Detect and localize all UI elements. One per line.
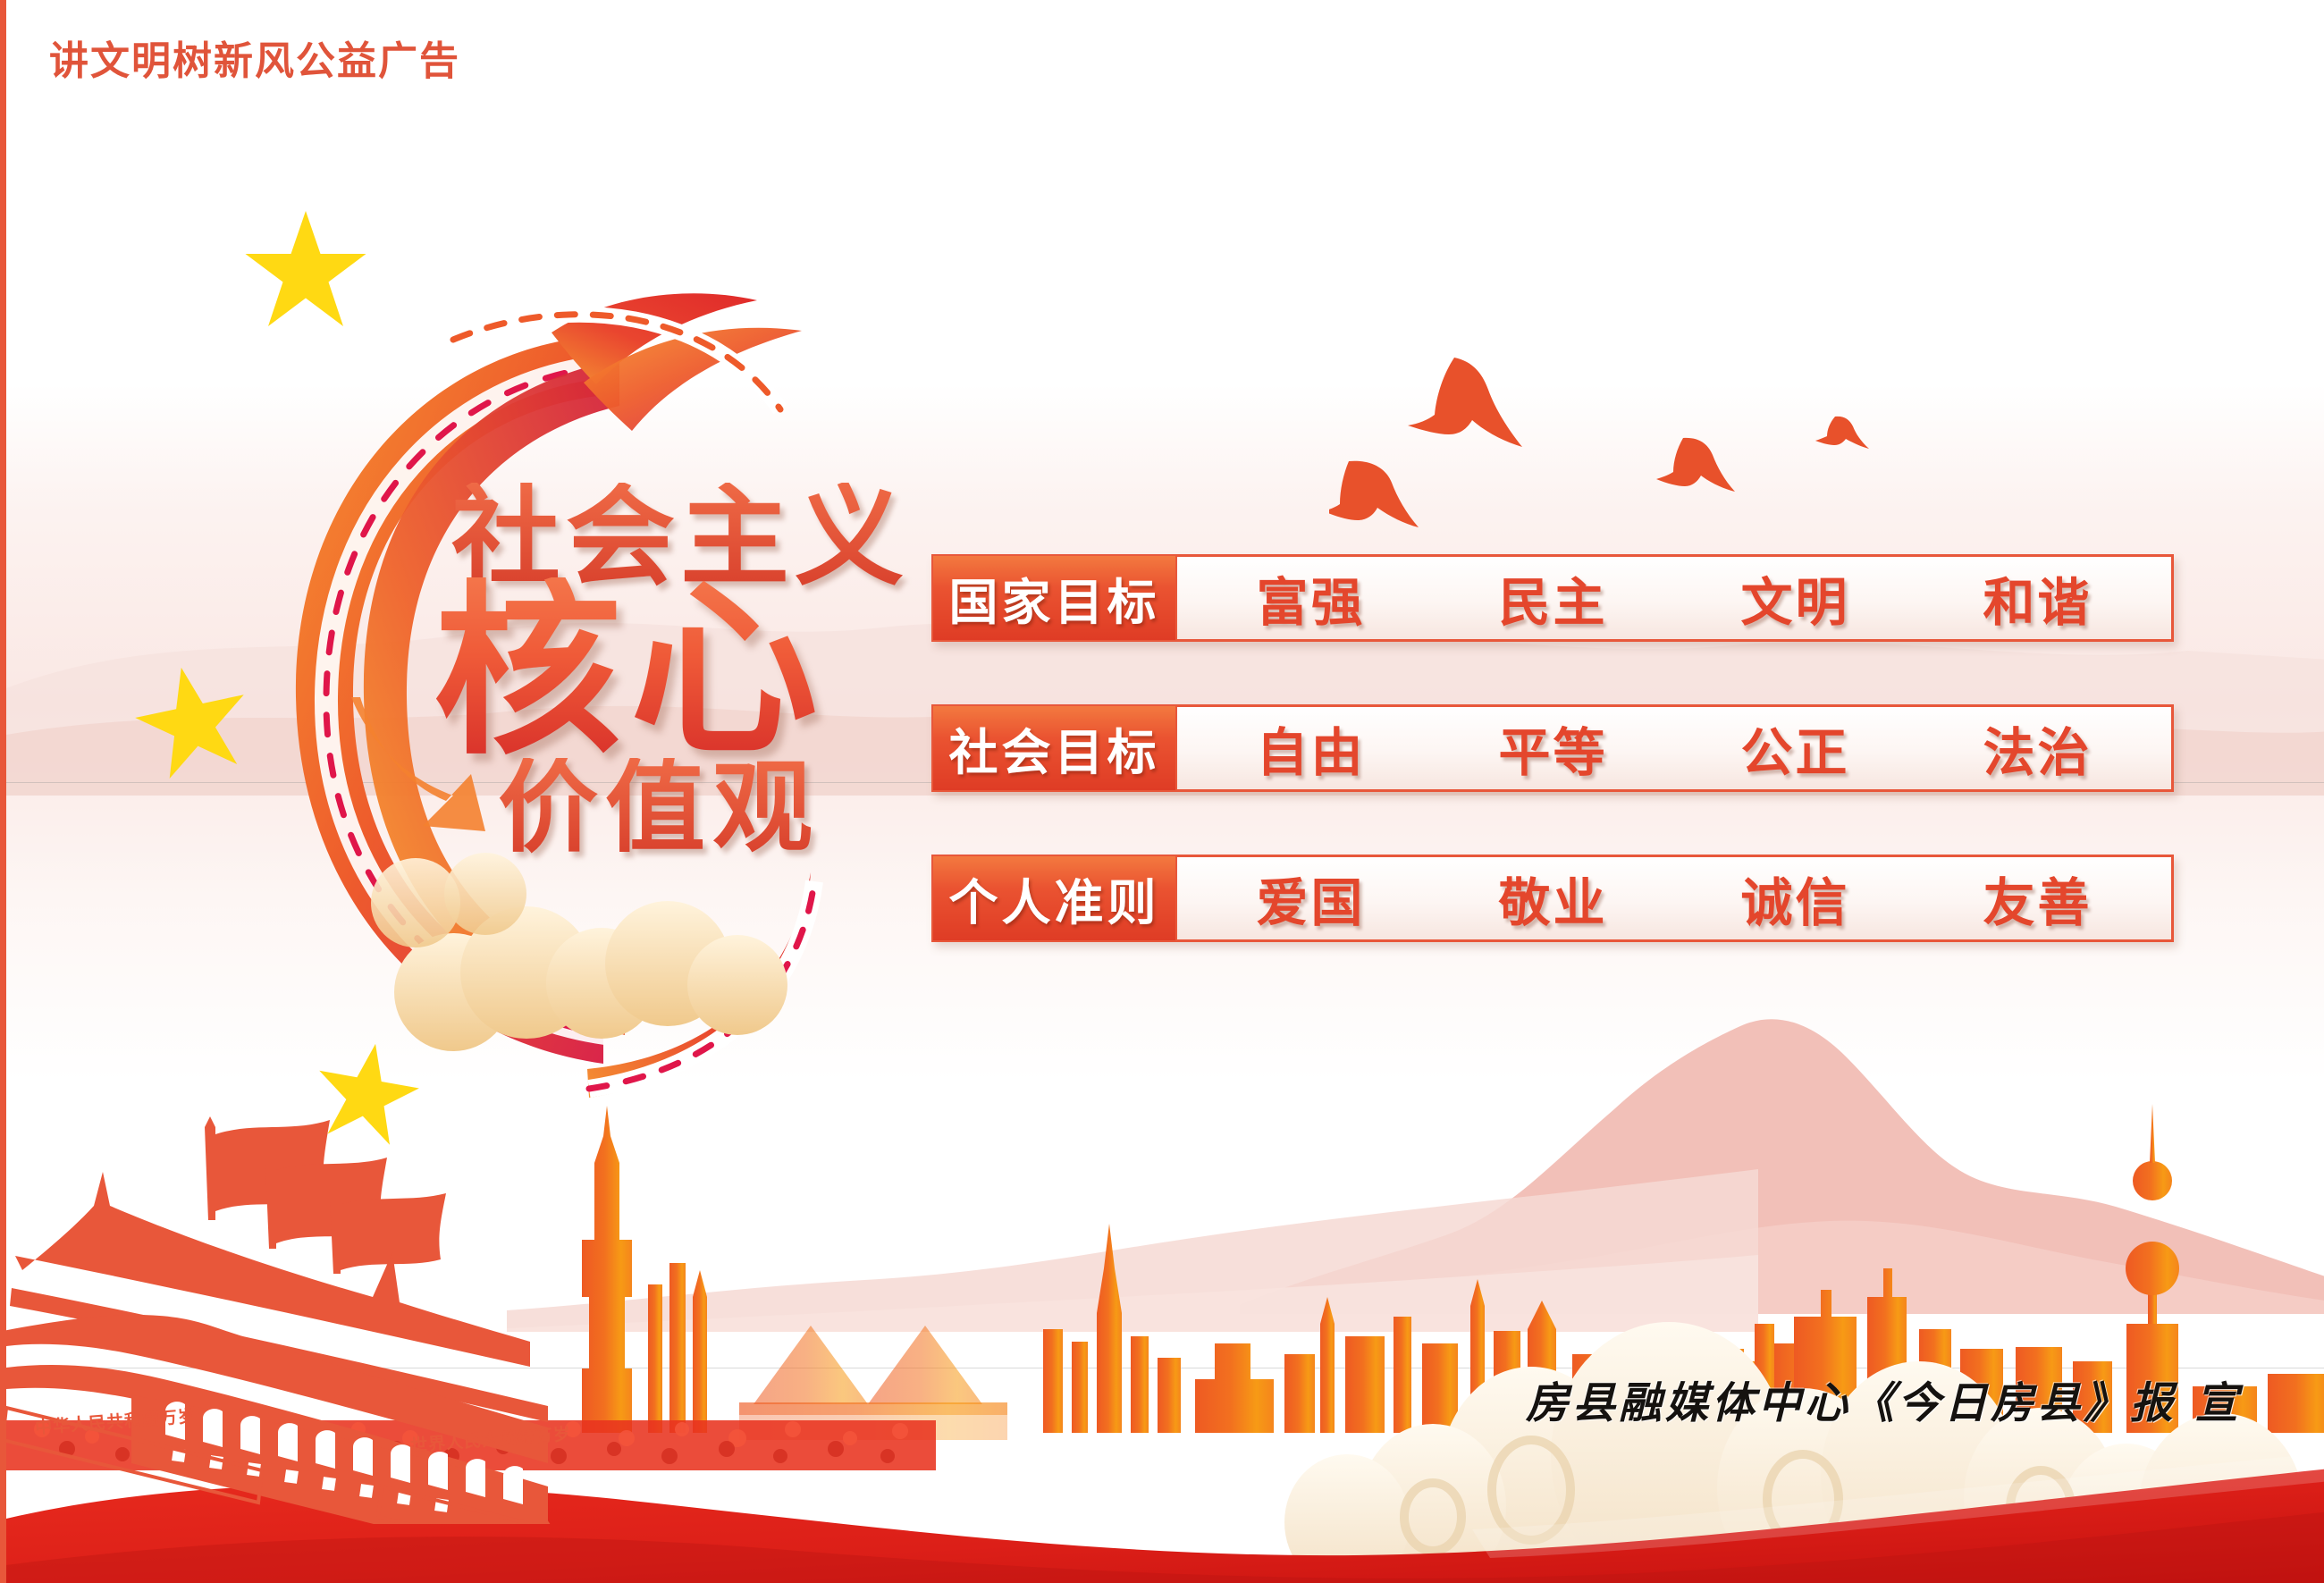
tiananmen-illustration xyxy=(0,1113,552,1524)
cloud-cluster xyxy=(371,853,787,1051)
logotype-line-values: 价值观 xyxy=(498,758,998,858)
campaign-header-label: 讲文明树新风公益广告 xyxy=(49,29,460,86)
value-row-body: 爱国 敬业 诚信 友善 xyxy=(1177,855,2174,942)
publisher-signature: 房县融媒体中心《今日房县》报 宣 xyxy=(1526,1368,2242,1430)
value-row-personal: 个人准则 爱国 敬业 诚信 友善 xyxy=(931,855,2174,942)
bird-icon xyxy=(1408,358,1522,447)
flying-birds-group xyxy=(1329,331,1883,554)
value-row-tag: 国家目标 xyxy=(931,554,1177,642)
value-word: 富强 xyxy=(1190,560,1432,636)
value-word: 法治 xyxy=(1916,711,2159,786)
bird-icon xyxy=(1329,461,1419,527)
flagpole xyxy=(330,1188,341,1274)
value-row-body: 自由 平等 公正 法治 xyxy=(1177,704,2174,792)
value-word: 平等 xyxy=(1432,711,1674,786)
value-word: 爱国 xyxy=(1190,861,1432,936)
core-values-logotype: 社会主义 核心 价值观 xyxy=(426,483,998,858)
value-word: 民主 xyxy=(1432,560,1674,636)
flagpole xyxy=(265,1154,276,1249)
flagpole xyxy=(205,1116,215,1220)
value-word: 公正 xyxy=(1674,711,1916,786)
value-word: 自由 xyxy=(1190,711,1432,786)
value-word: 敬业 xyxy=(1432,861,1674,936)
value-row-social: 社会目标 自由 平等 公正 法治 xyxy=(931,704,2174,792)
value-row-tag: 社会目标 xyxy=(931,704,1177,792)
value-row-national: 国家目标 富强 民主 文明 和谐 xyxy=(931,554,2174,642)
poster-canvas: 讲文明树新风公益广告 xyxy=(0,0,2324,1583)
bird-icon xyxy=(1656,438,1735,492)
value-row-tag: 个人准则 xyxy=(931,855,1177,942)
core-values-rows: 国家目标 富强 民主 文明 和谐 社会目标 自由 平等 公正 法治 xyxy=(931,554,2174,1005)
value-word: 文明 xyxy=(1674,560,1916,636)
value-word: 友善 xyxy=(1916,861,2159,936)
bird-icon xyxy=(1815,417,1869,449)
value-word: 诚信 xyxy=(1674,861,1916,936)
logotype-line-core: 核心 xyxy=(434,577,998,765)
value-word: 和谐 xyxy=(1916,560,2159,636)
value-row-body: 富强 民主 文明 和谐 xyxy=(1177,554,2174,642)
